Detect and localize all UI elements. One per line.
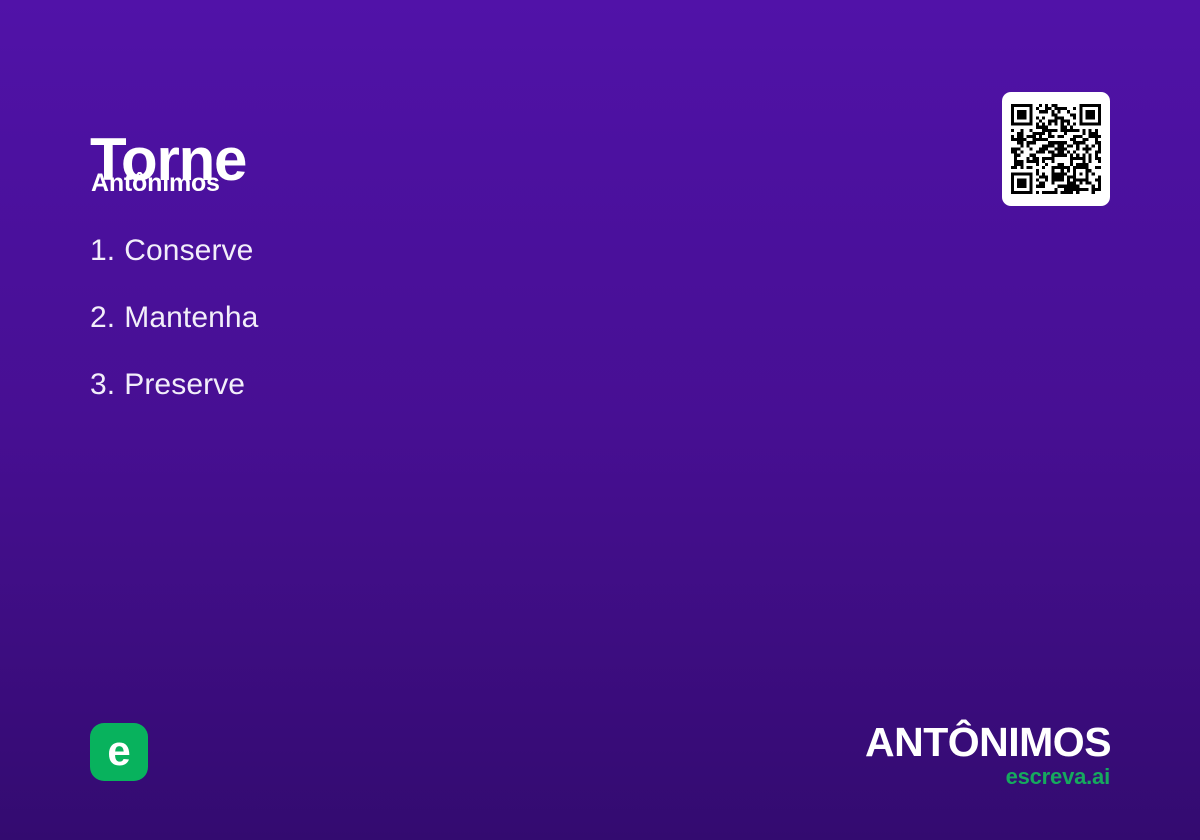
list-item-index: 1. (90, 236, 115, 266)
list-item-index: 2. (90, 303, 115, 333)
antonyms-card: Torne Antônimos 1.Conserve 2.Mantenha 3.… (0, 0, 1200, 840)
qr-code-icon (1011, 104, 1101, 194)
wordmark-secondary-text: escreva.ai (865, 766, 1110, 788)
wordmark-primary-text: ANTÔNIMOS (865, 722, 1110, 763)
list-item-word: Mantenha (124, 303, 258, 333)
brand-wordmark: ANTÔNIMOS escreva.ai (865, 722, 1110, 788)
brand-mark-letter: e (107, 730, 130, 772)
qr-code-frame[interactable] (1002, 92, 1110, 206)
list-item-word: Conserve (124, 236, 253, 266)
list-item: 1.Conserve (90, 236, 258, 303)
escreva-logo-icon[interactable]: e (90, 723, 148, 781)
list-item-index: 3. (90, 370, 115, 400)
list-item-word: Preserve (124, 370, 245, 400)
page-subtitle: Antônimos (91, 168, 220, 198)
list-item: 3.Preserve (90, 370, 258, 437)
list-item: 2.Mantenha (90, 303, 258, 370)
antonym-list: 1.Conserve 2.Mantenha 3.Preserve (90, 236, 258, 437)
